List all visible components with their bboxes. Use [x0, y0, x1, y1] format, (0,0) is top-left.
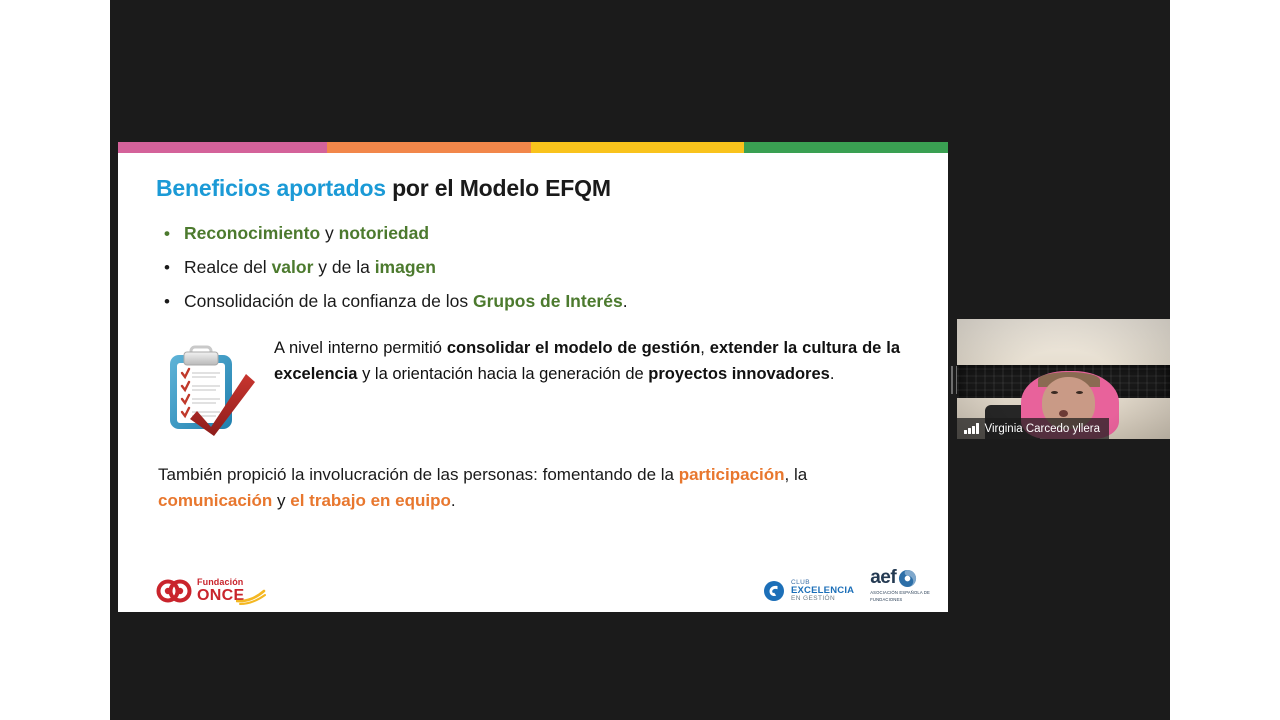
bullet-text-2: Realce del valor y de la imagen — [184, 257, 436, 277]
people-involvement-text: También propició la involucración de las… — [158, 462, 898, 515]
once-rings-icon — [156, 578, 192, 604]
accent-bar-segment-orange — [327, 142, 531, 153]
aef-subtitle-line1: ASOCIACIÓN ESPAÑOLA DE — [870, 590, 930, 595]
club-excelencia-mark-icon — [763, 580, 785, 602]
participant-video-tile[interactable]: Virginia Carcedo yllera — [957, 319, 1170, 439]
internal-benefits-block: A nivel interno permitió consolidar el m… — [160, 335, 900, 442]
benefits-bullet-list: • Reconocimiento y notoriedad • Realce d… — [148, 223, 948, 313]
presentation-slide[interactable]: Beneficios aportados por el Modelo EFQM … — [118, 142, 948, 612]
aef-mark-icon — [898, 569, 917, 588]
bullet-text-3: Consolidación de la confianza de los Gru… — [184, 291, 628, 311]
screen-root: Beneficios aportados por el Modelo EFQM … — [0, 0, 1280, 720]
slide-title-rest: por el Modelo EFQM — [386, 175, 611, 201]
bullet-dot-icon: • — [164, 223, 170, 244]
bullet-text-1: Reconocimiento y notoriedad — [184, 223, 429, 243]
aef-logo: aef ASOCIACIÓN ESPAÑOLA DE FUNDACIONES — [870, 569, 930, 603]
participant-name-tag: Virginia Carcedo yllera — [957, 418, 1109, 439]
list-item: • Realce del valor y de la imagen — [148, 257, 948, 279]
slide-title: Beneficios aportados por el Modelo EFQM — [156, 175, 948, 202]
accent-bar-segment-pink — [118, 142, 327, 153]
slide-title-highlight: Beneficios aportados — [156, 175, 386, 201]
aef-subtitle-line2: FUNDACIONES — [870, 597, 902, 602]
partner-logos: CLUB EXCELENCIA EN GESTIÓN aef — [763, 569, 930, 603]
once-line1: Fundación — [197, 578, 244, 587]
slide-logo-row: Fundación ONCE CLUB — [118, 560, 948, 604]
aef-wordmark: aef — [870, 570, 896, 586]
list-item: • Consolidación de la confianza de los G… — [148, 291, 948, 313]
fundacion-once-logo: Fundación ONCE — [156, 578, 244, 604]
bullet-dot-icon: • — [164, 257, 170, 278]
list-item: • Reconocimiento y notoriedad — [148, 223, 948, 245]
club-excelencia-logo: CLUB EXCELENCIA EN GESTIÓN — [763, 580, 854, 603]
clipboard-checklist-icon — [160, 335, 268, 442]
club-excelencia-line3: EN GESTIÓN — [791, 596, 854, 603]
internal-benefits-text: A nivel interno permitió consolidar el m… — [268, 335, 900, 388]
bullet-dot-icon: • — [164, 291, 170, 312]
accent-bar-segment-green — [744, 142, 948, 153]
once-swoosh-icon — [236, 589, 266, 605]
accent-bar-segment-yellow — [531, 142, 743, 153]
signal-bars-icon — [964, 423, 979, 434]
participant-name: Virginia Carcedo yllera — [985, 423, 1100, 435]
slide-accent-bar — [118, 142, 948, 153]
